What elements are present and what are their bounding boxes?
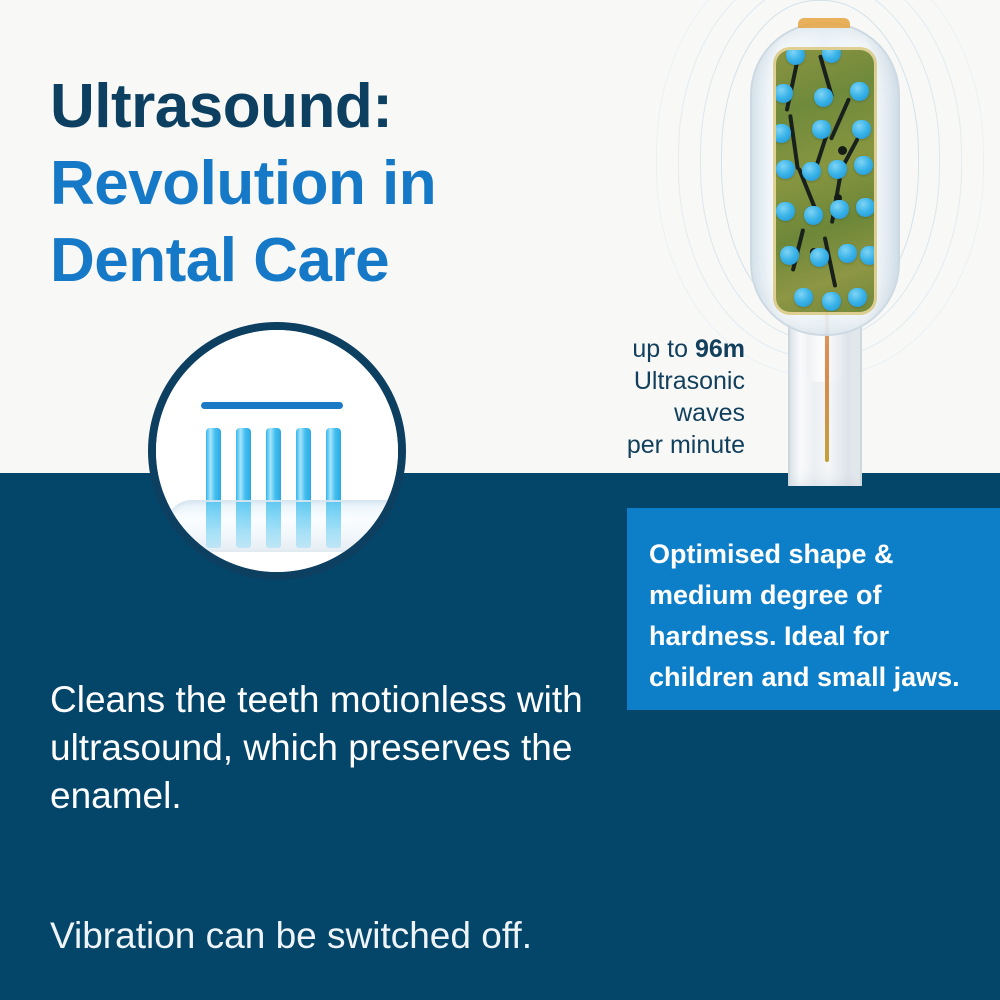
- tagline-text: Vibration can be switched off.: [50, 912, 750, 960]
- bristle-tuft: [856, 198, 874, 217]
- bristle-tuft: [810, 248, 829, 267]
- bristle-closeup-photo: [156, 330, 398, 572]
- bristle-tuft: [822, 292, 841, 311]
- circle-inset-bristles: [148, 322, 406, 580]
- inset-bristle-base: [206, 502, 221, 548]
- bristle-tuft: [854, 156, 873, 175]
- bristle-tuft: [802, 162, 821, 181]
- wave-caption-line-3: waves: [627, 397, 745, 429]
- wave-caption-line-1: up to 96m: [627, 333, 745, 365]
- wave-caption-line-4: per minute: [627, 429, 745, 461]
- bristle-tuft: [776, 202, 795, 221]
- bristle-tuft: [812, 120, 831, 139]
- brush-head-body: [166, 500, 406, 552]
- inset-bristle-base: [296, 502, 311, 548]
- headline-line-2: Revolution in: [50, 145, 610, 222]
- bristle-tuft: [776, 160, 795, 179]
- bristle-tuft: [776, 124, 791, 143]
- field-dot: [838, 146, 847, 155]
- body-copy-text: Cleans the teeth motionless with ultraso…: [50, 676, 650, 820]
- bristle-tuft: [828, 160, 847, 179]
- wave-caption-value: 96m: [695, 335, 745, 363]
- headline-line-1: Ultrasound:: [50, 68, 610, 145]
- bristle-tuft: [852, 120, 871, 139]
- inset-bristle-base: [266, 502, 281, 548]
- poster-canvas: Ultrasound: Revolution in Dental Care: [0, 0, 1000, 1000]
- bristle-tuft: [786, 50, 805, 65]
- wave-caption-line-2: Ultrasonic: [627, 365, 745, 397]
- ultrasonic-wave-caption: up to 96m Ultrasonic waves per minute: [627, 333, 745, 461]
- inset-bristle-base: [326, 502, 341, 548]
- bristle-tuft: [822, 50, 841, 63]
- bristle-tuft: [804, 206, 823, 225]
- bristle-tuft: [848, 288, 867, 307]
- bristle-tuft: [850, 82, 869, 101]
- headline-line-3: Dental Care: [50, 222, 610, 299]
- bristle-tuft: [780, 246, 799, 265]
- bristle-tuft: [860, 246, 874, 265]
- bristle-tuft: [838, 244, 857, 263]
- toothbrush-head-capsule: [750, 22, 900, 336]
- bristle-tuft: [814, 88, 833, 107]
- inset-bristle-base: [236, 502, 251, 548]
- head-tip-accent: [798, 18, 850, 28]
- wave-caption-prefix: up to: [632, 335, 695, 363]
- bristle-field: [776, 50, 874, 312]
- level-trim-indicator-line: [201, 402, 343, 409]
- bristle-tuft: [830, 200, 849, 219]
- page-title: Ultrasound: Revolution in Dental Care: [50, 68, 610, 299]
- bristle-tuft: [794, 288, 813, 307]
- callout-text: Optimised shape & medium degree of hardn…: [649, 534, 986, 698]
- field-line: [829, 97, 851, 141]
- callout-box: Optimised shape & medium degree of hardn…: [627, 508, 1000, 710]
